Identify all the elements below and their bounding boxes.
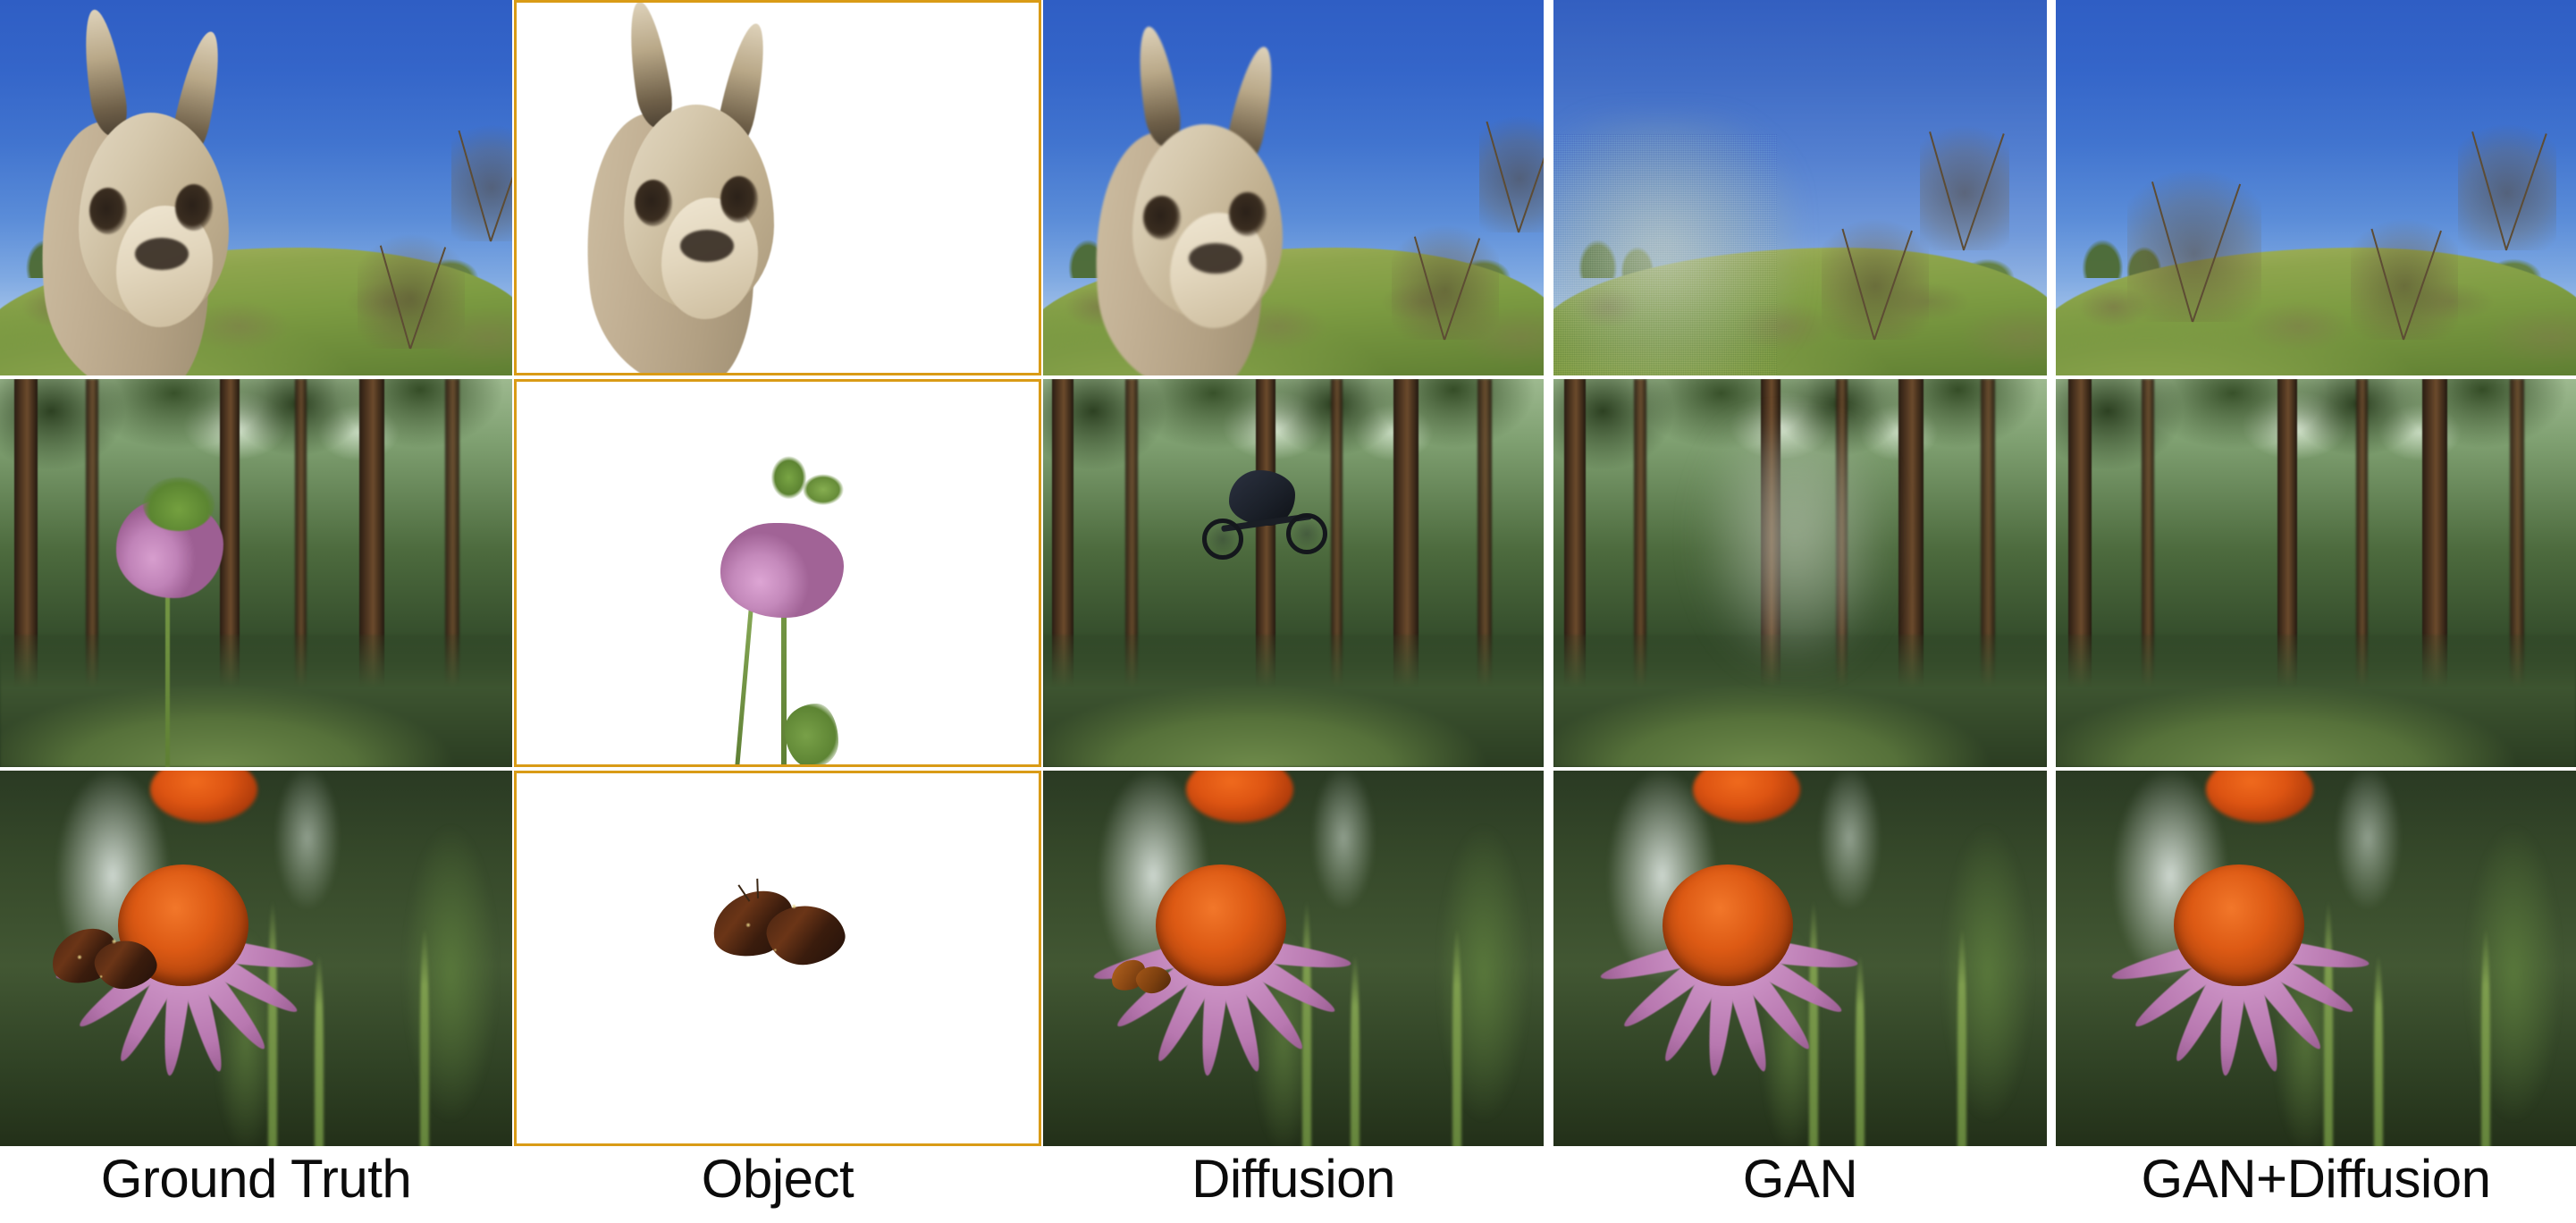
coneflower-disc — [1663, 865, 1792, 986]
cell-row-foxglove-object[interactable] — [514, 379, 1041, 767]
cell-row-llama-object[interactable] — [514, 0, 1041, 375]
cell-row-coneflower-gan[interactable] — [1553, 771, 2047, 1146]
dry-shrub — [2458, 107, 2556, 250]
cell-row-llama-ground-truth[interactable] — [0, 0, 512, 375]
foxglove-leaves — [143, 477, 215, 531]
cell-row-coneflower-ground-truth[interactable] — [0, 771, 512, 1146]
dry-shrub — [358, 224, 465, 349]
butterfly-antenna — [756, 879, 759, 898]
llama-eye-right — [175, 184, 213, 231]
coneflower-disc — [2174, 865, 2303, 986]
llama-eye-left — [1143, 196, 1181, 240]
gan-artifact-smudge — [1705, 433, 1884, 665]
gan-artifact-noise — [1553, 134, 1777, 375]
column-caption-object: Object — [514, 1146, 1041, 1212]
cell-row-foxglove-ground-truth[interactable] — [0, 379, 512, 767]
foxglove-top-buds — [758, 455, 844, 530]
dry-shrub — [1479, 98, 1544, 232]
cell-row-llama-gan[interactable] — [1553, 0, 2047, 375]
coneflower-main — [1073, 797, 1368, 1101]
forest-floor — [2056, 635, 2576, 767]
llama-ear-left — [1132, 23, 1185, 149]
forest-floor — [0, 635, 512, 767]
cell-row-foxglove-gan-diffusion[interactable] — [2056, 379, 2576, 767]
butterfly-wing-spots — [702, 866, 872, 1003]
llama-eye-right — [1229, 192, 1267, 236]
foxglove-bloom — [720, 523, 844, 618]
cell-row-foxglove-diffusion[interactable] — [1043, 379, 1544, 767]
llama-regenerated — [1079, 36, 1347, 375]
bike-wheel-rear — [1202, 519, 1243, 560]
coneflower-disc — [1156, 865, 1285, 986]
dry-shrub — [2351, 206, 2458, 340]
llama-eye-left — [635, 180, 672, 226]
llama-subject — [25, 20, 293, 375]
coneflower-main — [2092, 797, 2387, 1101]
cell-row-llama-diffusion[interactable] — [1043, 0, 1544, 375]
llama-ear-left — [622, 0, 677, 131]
cell-row-llama-gan-diffusion[interactable] — [2056, 0, 2576, 375]
butterfly-object-cutout — [702, 866, 872, 1003]
column-caption-gan: GAN — [1553, 1146, 2047, 1212]
cell-row-coneflower-object[interactable] — [514, 771, 1041, 1146]
llama-nose — [680, 230, 734, 262]
llama-eye-left — [89, 188, 127, 234]
foxglove-leaf — [785, 704, 838, 767]
forest-canopy — [0, 379, 512, 558]
dry-shrub — [1392, 215, 1499, 340]
dry-shrub — [1822, 206, 1929, 340]
llama-nose — [135, 238, 189, 270]
llama-eye-right — [720, 176, 758, 223]
column-caption-ground-truth: Ground Truth — [0, 1146, 512, 1212]
column-caption-gan-diffusion: GAN+Diffusion — [2056, 1146, 2576, 1212]
dry-shrub — [2127, 152, 2261, 322]
column-caption-diffusion: Diffusion — [1043, 1146, 1544, 1212]
coneflower-main — [1580, 797, 1875, 1101]
foxglove-stem-secondary — [735, 605, 753, 767]
llama-ear-left — [77, 7, 131, 139]
llama-nose — [1189, 243, 1242, 274]
bike-wheel-front — [1286, 513, 1327, 554]
cell-row-foxglove-gan[interactable] — [1553, 379, 2047, 767]
mountain-biker — [1195, 468, 1338, 567]
comparison-figure: Ground Truth Object Diffusion GAN GAN+Di… — [0, 0, 2576, 1223]
cell-row-coneflower-diffusion[interactable] — [1043, 771, 1544, 1146]
llama-object-cutout — [570, 12, 838, 369]
forest-canopy — [2056, 379, 2576, 558]
dry-shrub — [1920, 107, 2009, 250]
dry-shrub — [451, 107, 512, 241]
cell-row-coneflower-gan-diffusion[interactable] — [2056, 771, 2576, 1146]
forest-floor — [1043, 635, 1544, 767]
